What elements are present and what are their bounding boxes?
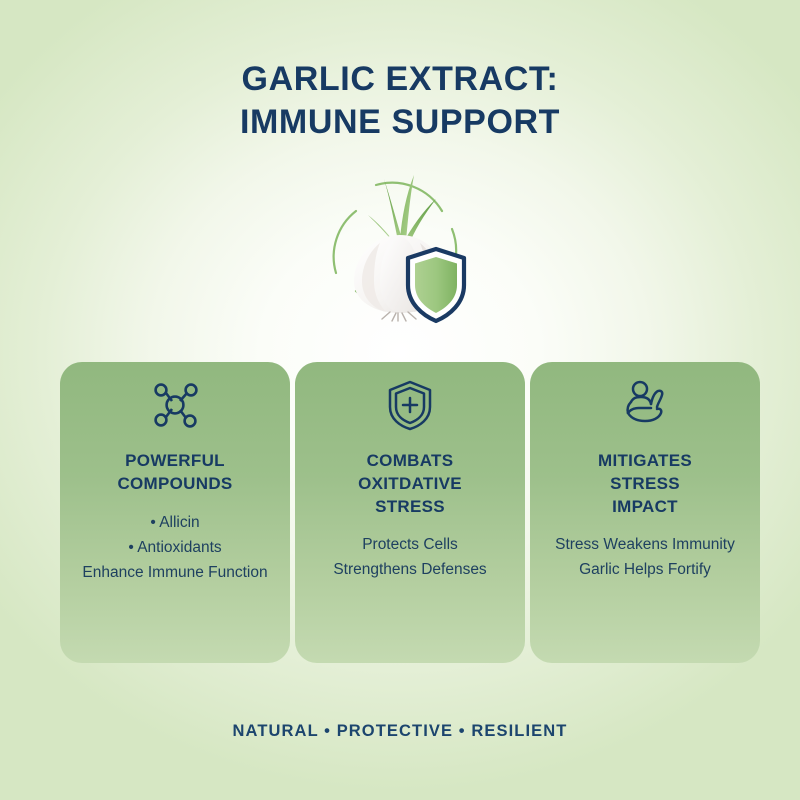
garlic-roots	[382, 312, 416, 321]
meditating-person-icon	[618, 376, 672, 434]
card-title-line-1: POWERFUL	[125, 451, 225, 470]
card-title-line-3: STRESS	[375, 497, 445, 516]
card-body: • Allicin • Antioxidants Enhance Immune …	[82, 510, 267, 585]
card-title-line-2: STRESS	[610, 474, 680, 493]
page-title: GARLIC EXTRACT: IMMUNE SUPPORT	[0, 58, 800, 144]
card-title-line-1: COMBATS	[367, 451, 454, 470]
card-body-line: Strengthens Defenses	[333, 557, 486, 582]
card-body: Protects Cells Strengthens Defenses	[333, 532, 486, 582]
title-line-2: IMMUNE SUPPORT	[0, 101, 800, 144]
infographic-poster: GARLIC EXTRACT: IMMUNE SUPPORT	[0, 0, 800, 800]
card-body-line: • Allicin	[82, 510, 267, 535]
benefit-card-combats-oxidative-stress[interactable]: COMBATS OXITDATIVE STRESS Protects Cells…	[295, 362, 525, 663]
card-title-line-2: COMPOUNDS	[117, 474, 232, 493]
benefit-cards: POWERFUL COMPOUNDS • Allicin • Antioxida…	[60, 362, 760, 663]
card-title-line-3: IMPACT	[612, 497, 678, 516]
benefit-card-powerful-compounds[interactable]: POWERFUL COMPOUNDS • Allicin • Antioxida…	[60, 362, 290, 663]
card-title: COMBATS OXITDATIVE STRESS	[358, 450, 462, 518]
card-body-line: Stress Weakens Immunity	[555, 532, 735, 557]
title-line-1: GARLIC EXTRACT:	[0, 58, 800, 101]
card-title: POWERFUL COMPOUNDS	[117, 450, 232, 496]
card-title-line-2: OXITDATIVE	[358, 474, 462, 493]
card-body-line: • Antioxidants	[82, 535, 267, 560]
footer-tagline: NATURAL • PROTECTIVE • RESILIENT	[0, 722, 800, 741]
card-body-line: Protects Cells	[333, 532, 486, 557]
card-body-line: Enhance Immune Function	[82, 560, 267, 585]
card-body: Stress Weakens Immunity Garlic Helps For…	[555, 532, 735, 582]
card-title-line-1: MITIGATES	[598, 451, 692, 470]
shield-badge	[408, 249, 464, 321]
shield-plus-icon	[386, 376, 434, 434]
molecule-icon	[149, 376, 201, 434]
benefit-card-mitigates-stress-impact[interactable]: MITIGATES STRESS IMPACT Stress Weakens I…	[530, 362, 760, 663]
card-body-line: Garlic Helps Fortify	[555, 557, 735, 582]
card-title: MITIGATES STRESS IMPACT	[598, 450, 692, 518]
garlic-bulb-with-shield-illustration	[310, 163, 490, 338]
